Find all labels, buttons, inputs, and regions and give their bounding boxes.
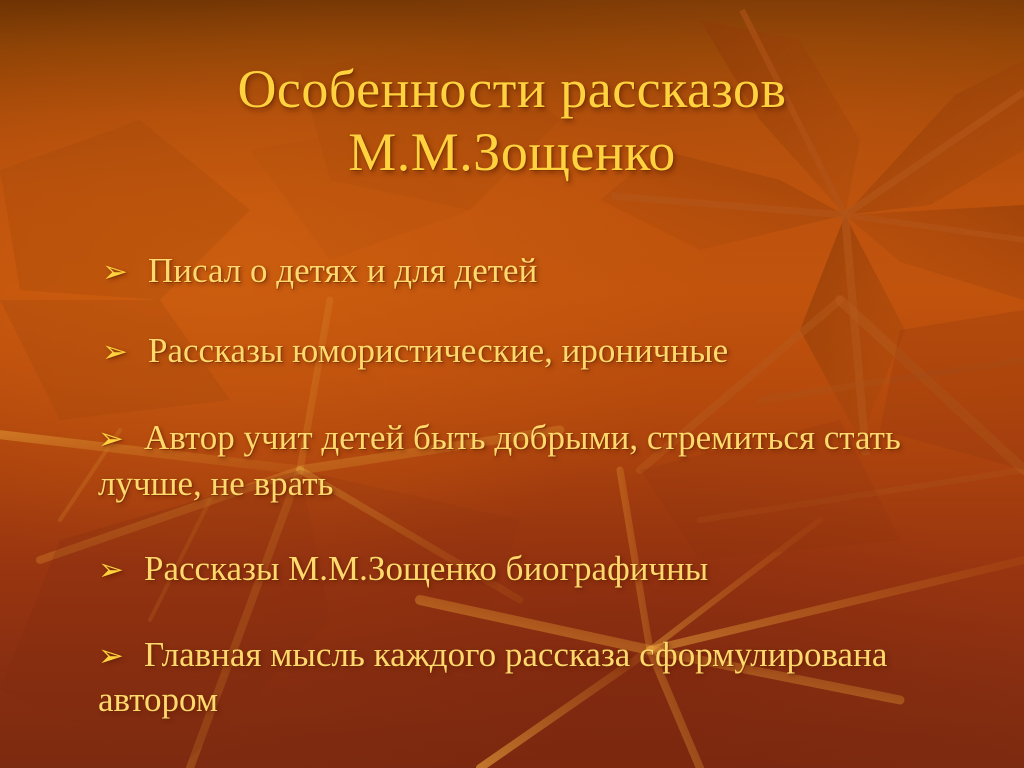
bullet-item-3-text: Автор учит детей быть добрыми, стремитьс… — [98, 418, 901, 503]
bullet-item-5: ➢Главная мысль каждого рассказа сформули… — [62, 632, 982, 723]
arrowhead-bullet-icon: ➢ — [102, 252, 148, 292]
slide-title: Особенности рассказов М.М.Зощенко — [0, 58, 1024, 184]
bullet-item-4-text: Рассказы М.М.Зощенко биографичны — [144, 549, 708, 588]
arrowhead-bullet-icon: ➢ — [98, 550, 144, 590]
arrowhead-bullet-icon: ➢ — [102, 332, 148, 372]
bullet-item-4: ➢Рассказы М.М.Зощенко биографичны — [62, 546, 982, 592]
bullet-item-2-text: Рассказы юмористические, ироничные — [148, 331, 728, 370]
slide-canvas: Особенности рассказов М.М.Зощенко ➢Писал… — [0, 0, 1024, 768]
bullet-item-1: ➢Писал о детях и для детей — [62, 248, 982, 294]
arrowhead-bullet-icon: ➢ — [98, 636, 144, 676]
arrowhead-bullet-icon: ➢ — [98, 419, 144, 459]
bullet-item-3: ➢Автор учит детей быть добрыми, стремить… — [62, 415, 982, 506]
bullet-item-2: ➢Рассказы юмористические, ироничные — [62, 328, 982, 374]
bullet-list: ➢Писал о детях и для детей ➢Рассказы юмо… — [62, 248, 982, 723]
bullet-item-1-text: Писал о детях и для детей — [148, 251, 537, 290]
bullet-item-5-text: Главная мысль каждого рассказа сформулир… — [98, 635, 887, 720]
